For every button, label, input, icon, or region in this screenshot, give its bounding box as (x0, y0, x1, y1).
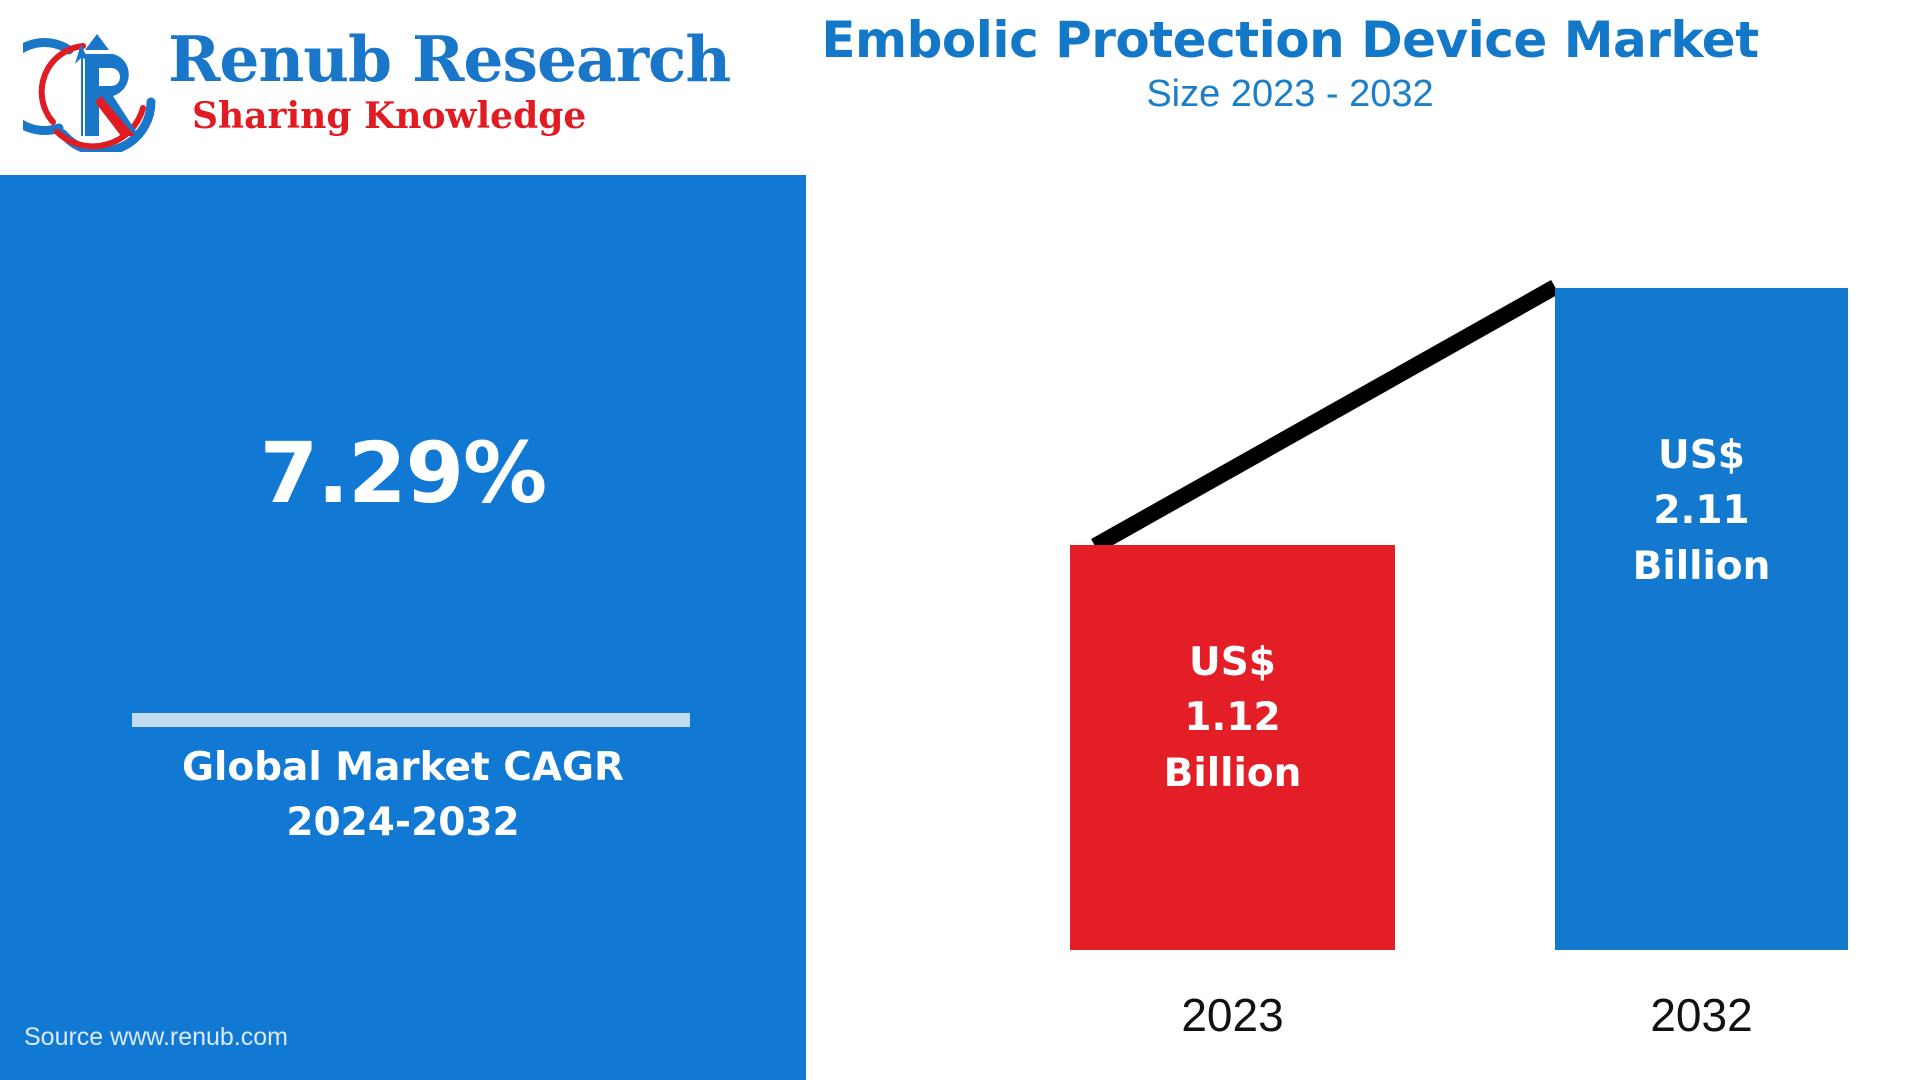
source-text: Source www.renub.com (24, 1023, 288, 1052)
bar-2023-unit: Billion (1164, 746, 1302, 801)
bar-2032-currency: US$ (1658, 428, 1745, 483)
cagr-panel: 7.29% Global Market CAGR 2024-2032 Sourc… (0, 175, 806, 1080)
bar-2032-unit: Billion (1633, 539, 1771, 594)
cagr-divider (132, 713, 690, 727)
bar-2023-currency: US$ (1189, 635, 1276, 690)
cagr-label: Global Market CAGR 2024-2032 (0, 740, 806, 851)
cagr-value: 7.29% (0, 431, 806, 515)
title-block: Embolic Protection Device Market Size 20… (660, 12, 1920, 116)
cagr-label-line-1: Global Market CAGR (0, 740, 806, 795)
page-subtitle: Size 2023 - 2032 (660, 74, 1920, 116)
bar-chart: US$ 1.12 Billion US$ 2.11 Billion 2023 2… (806, 175, 1920, 1080)
header-bar: Renub Research Sharing Knowledge Embolic… (0, 0, 1920, 175)
x-axis-label-2032: 2032 (1555, 988, 1848, 1042)
bar-2032-value: 2.11 (1653, 483, 1749, 538)
logo-company-name: Renub Research (168, 28, 628, 91)
logo-tagline: Sharing Knowledge (192, 98, 632, 134)
logo-wordmark: Renub Research Sharing Knowledge (168, 26, 628, 156)
page-title: Embolic Protection Device Market (660, 12, 1920, 68)
bar-2023[interactable]: US$ 1.12 Billion (1070, 545, 1395, 950)
cagr-label-line-2: 2024-2032 (0, 795, 806, 850)
renub-research-logo: Renub Research Sharing Knowledge (18, 14, 628, 154)
renub-r-arrow-logo-icon (23, 24, 173, 152)
bar-2032[interactable]: US$ 2.11 Billion (1555, 288, 1848, 950)
bar-2023-value: 1.12 (1184, 690, 1280, 745)
x-axis-label-2023: 2023 (1070, 988, 1395, 1042)
